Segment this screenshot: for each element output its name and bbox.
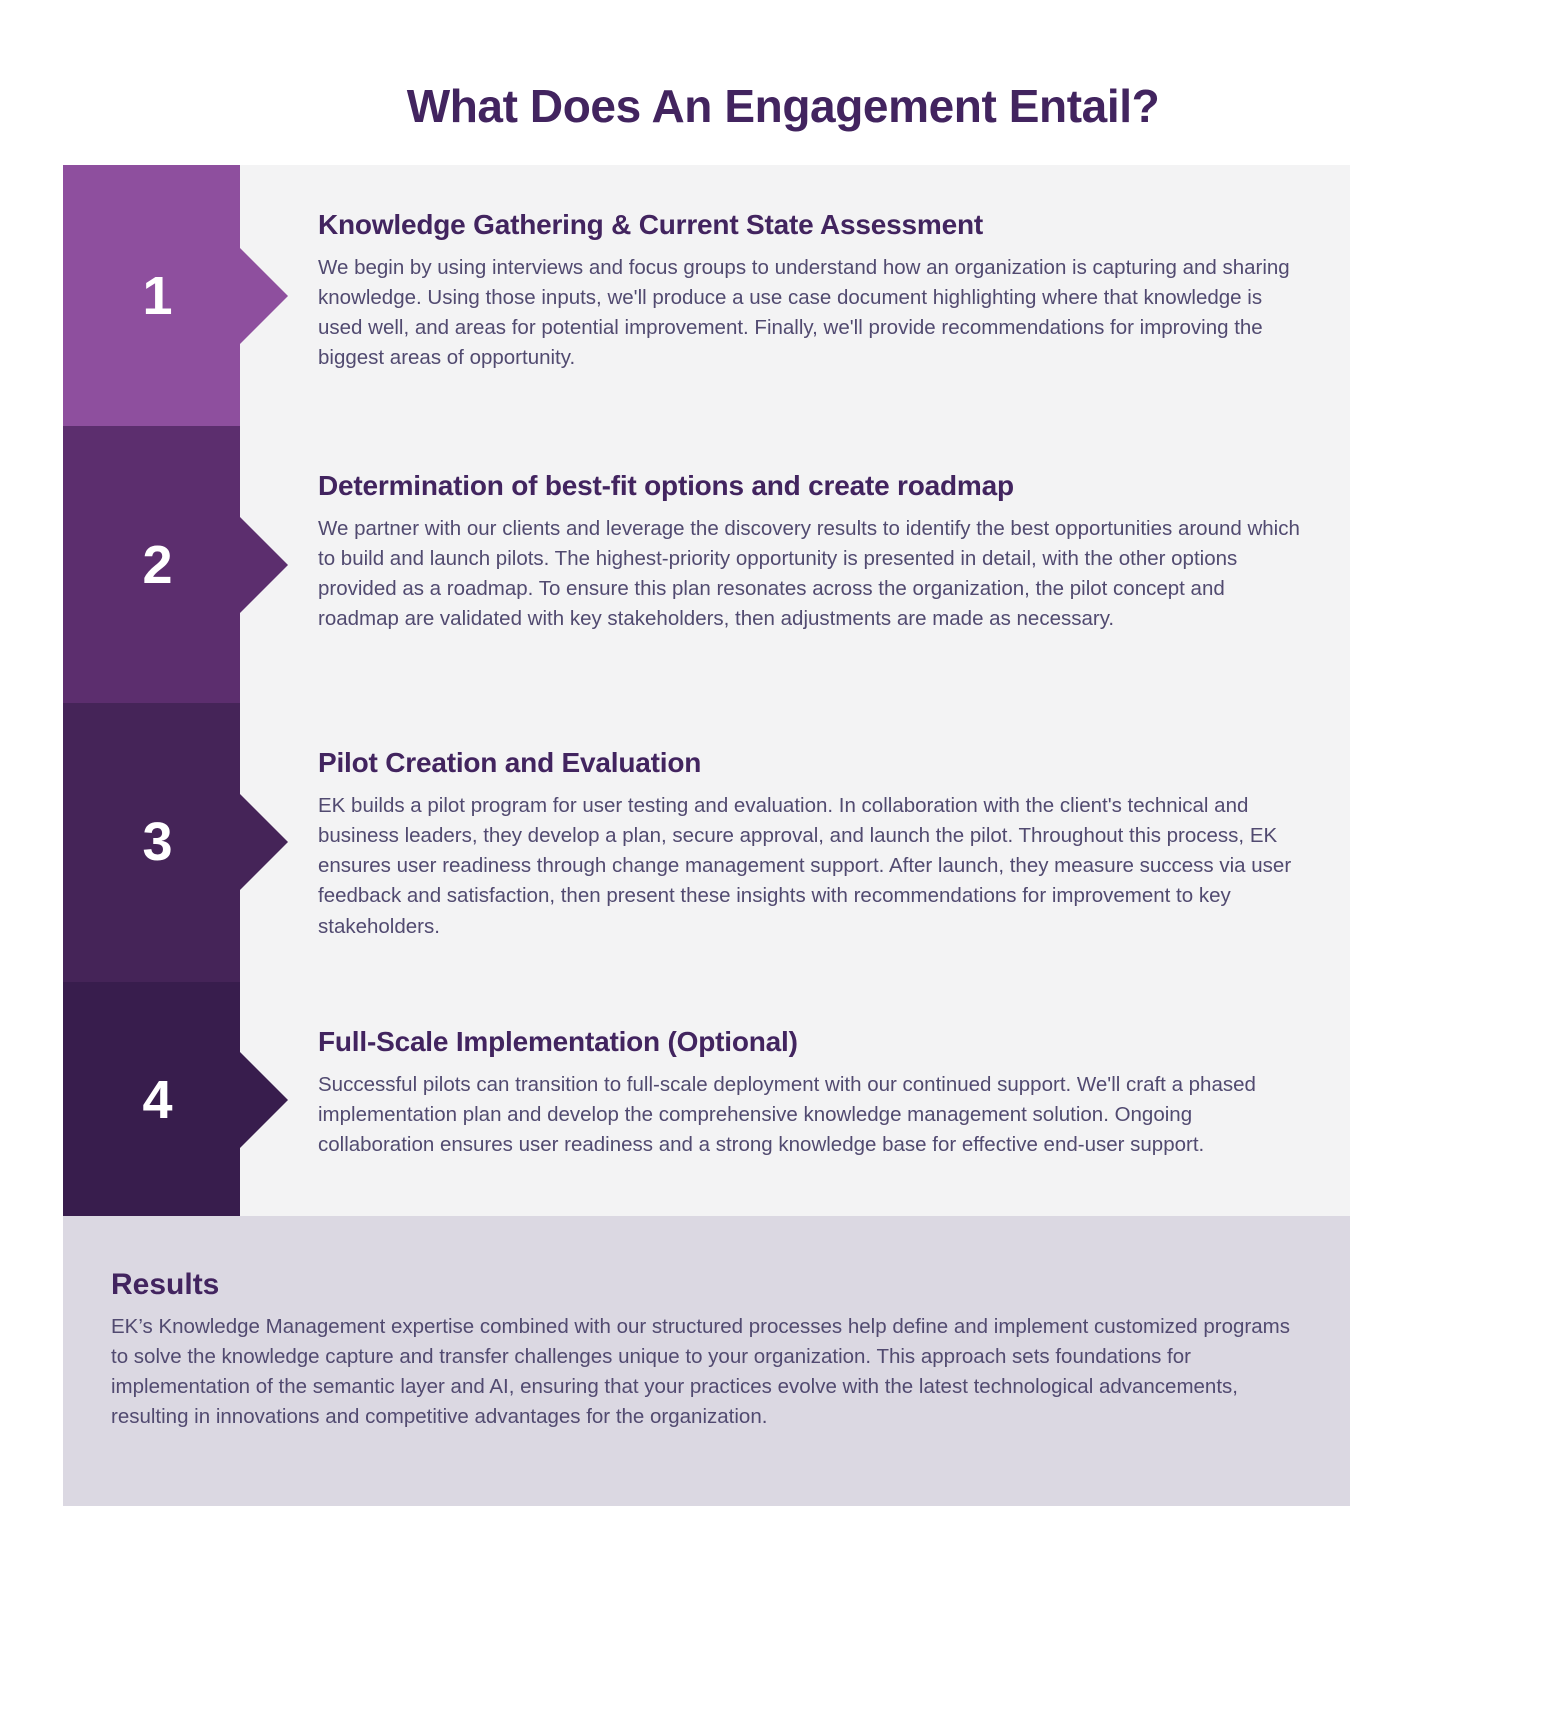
step-text-3: Pilot Creation and Evaluation EK builds … <box>240 703 1350 982</box>
step-row-3: 3 Pilot Creation and Evaluation EK build… <box>63 703 1350 982</box>
results-body: EK’s Knowledge Management expertise comb… <box>111 1312 1298 1433</box>
step-number-3: 3 <box>142 815 172 869</box>
step-row-1: 1 Knowledge Gathering & Current State As… <box>63 165 1350 426</box>
step-heading-4: Full-Scale Implementation (Optional) <box>318 1026 1306 1058</box>
step-number-4: 4 <box>142 1073 172 1127</box>
chevron-right-icon <box>240 794 288 890</box>
step-number-1: 1 <box>142 269 172 323</box>
step-body-2: We partner with our clients and leverage… <box>318 514 1306 635</box>
step-number-block-1: 1 <box>63 165 240 426</box>
step-number-block-2: 2 <box>63 426 240 703</box>
page-title: What Does An Engagement Entail? <box>0 79 1566 133</box>
step-number-block-3: 3 <box>63 703 240 982</box>
chevron-right-icon <box>240 1052 288 1148</box>
step-body-3: EK builds a pilot program for user testi… <box>318 791 1306 942</box>
steps-panel: 1 Knowledge Gathering & Current State As… <box>63 165 1350 1218</box>
results-heading: Results <box>111 1268 1298 1302</box>
step-text-2: Determination of best-fit options and cr… <box>240 426 1350 703</box>
step-heading-1: Knowledge Gathering & Current State Asse… <box>318 209 1306 241</box>
step-number-block-4: 4 <box>63 982 240 1218</box>
step-text-1: Knowledge Gathering & Current State Asse… <box>240 165 1350 426</box>
step-number-2: 2 <box>142 538 172 592</box>
step-text-4: Full-Scale Implementation (Optional) Suc… <box>240 982 1350 1218</box>
chevron-right-icon <box>240 517 288 613</box>
step-heading-2: Determination of best-fit options and cr… <box>318 470 1306 502</box>
step-row-4: 4 Full-Scale Implementation (Optional) S… <box>63 982 1350 1218</box>
chevron-right-icon <box>240 248 288 344</box>
infographic-page: What Does An Engagement Entail? 1 Knowle… <box>0 0 1566 1719</box>
step-row-2: 2 Determination of best-fit options and … <box>63 426 1350 703</box>
step-heading-3: Pilot Creation and Evaluation <box>318 747 1306 779</box>
results-panel: Results EK’s Knowledge Management expert… <box>63 1216 1350 1506</box>
step-body-4: Successful pilots can transition to full… <box>318 1070 1306 1160</box>
step-body-1: We begin by using interviews and focus g… <box>318 253 1306 374</box>
